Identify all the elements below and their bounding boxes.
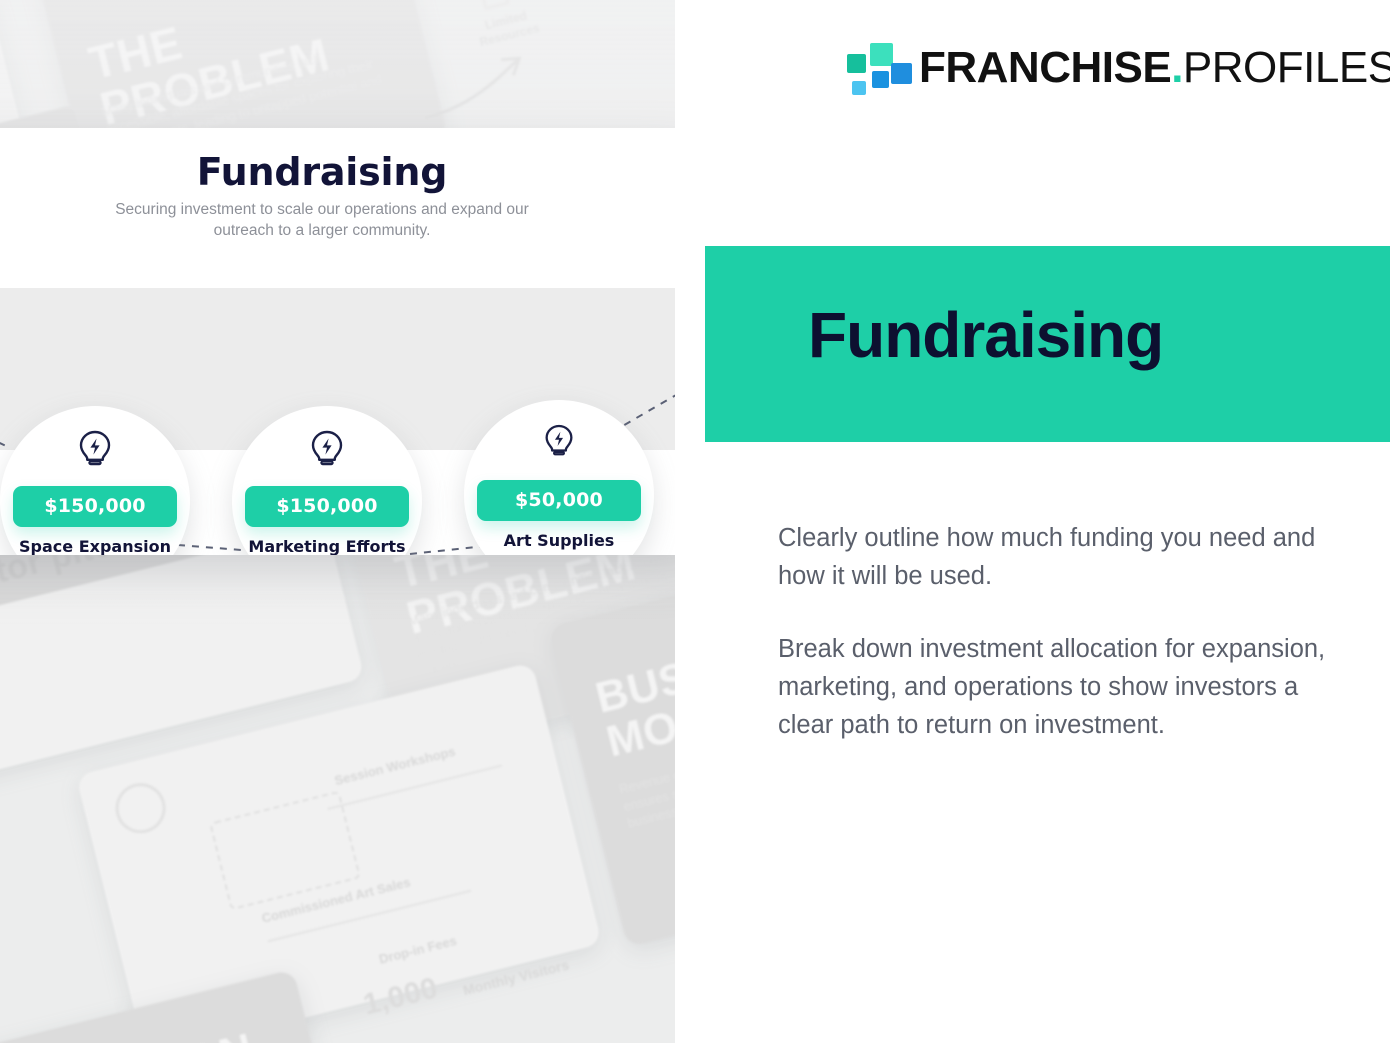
funding-label: Space Expansion: [6, 537, 184, 555]
hourglass-icon: [477, 0, 510, 10]
coin-icon: [110, 778, 171, 839]
funding-node-art-supplies[interactable]: $50,000 Art Supplies: [464, 400, 654, 555]
logo-square-4: [852, 81, 866, 95]
logo-wordmark: FRANCHISE.PROFILES: [919, 46, 1390, 90]
title-banner: Fundraising: [705, 246, 1390, 442]
slide-preview-pane: MARKET Demand for creative spaces in urb…: [0, 0, 675, 1043]
content-pane: FRANCHISE.PROFILES Fundraising Clearly o…: [675, 0, 1390, 1043]
funding-amount: $150,000: [13, 486, 177, 527]
logo-text-light: PROFILES: [1183, 43, 1390, 92]
lightbulb-icon: [232, 430, 422, 468]
deck-label: Drop-in Fees: [377, 933, 458, 968]
logo-text-bold: FRANCHISE: [919, 43, 1171, 92]
lightbulb-icon: [464, 424, 654, 458]
logo-square-2: [872, 71, 889, 88]
logo-square-3: [891, 63, 912, 84]
funding-label: Art Supplies: [470, 531, 648, 552]
fundraising-slide-card: Fundraising Securing investment to scale…: [0, 128, 675, 555]
page-title: Fundraising: [808, 298, 1163, 372]
lightbulb-icon: [0, 430, 190, 468]
deck-label: Limited Resources: [458, 2, 558, 54]
deck-label: Session Workshops: [333, 744, 457, 790]
funding-amount: $150,000: [245, 486, 409, 527]
description-text: Clearly outline how much funding you nee…: [778, 519, 1360, 744]
logo-mark-icon: [847, 40, 903, 96]
logo-square-0: [847, 54, 866, 73]
deck-slide-title: BUSINESS MODEL: [592, 611, 675, 766]
description-paragraph: Break down investment allocation for exp…: [778, 630, 1360, 745]
funding-amount: $50,000: [477, 480, 641, 521]
funding-label: Marketing Efforts: [238, 537, 416, 555]
logo-text-dot: .: [1171, 43, 1183, 92]
franchise-profiles-logo[interactable]: FRANCHISE.PROFILES: [847, 40, 1390, 96]
arrow-right-icon: [410, 47, 541, 134]
description-paragraph: Clearly outline how much funding you nee…: [778, 519, 1360, 596]
deck-slide-title: TRACTION: [13, 1026, 259, 1043]
logo-square-1: [870, 43, 893, 66]
